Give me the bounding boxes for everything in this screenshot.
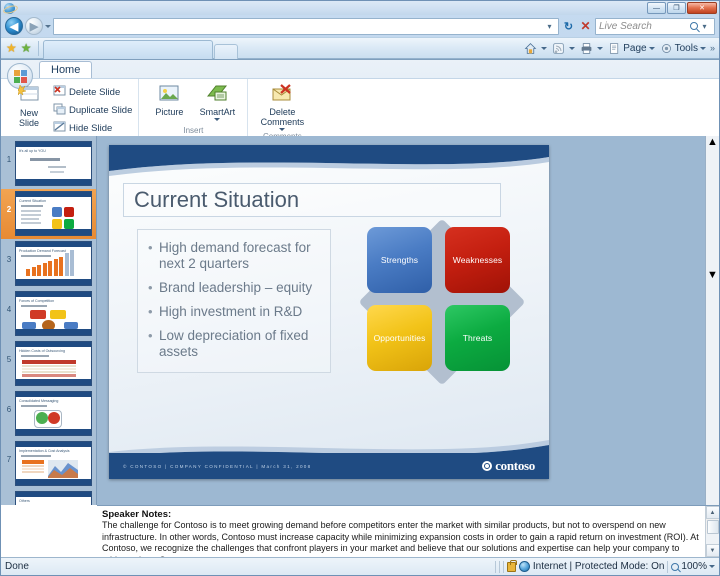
- slide-thumbnail-item[interactable]: 2Current Situation: [1, 189, 96, 239]
- slide-thumbnail-preview[interactable]: Implementation & Cost Analysis: [15, 441, 92, 486]
- slide-thumbnail-title: Implementation & Cost Analysis: [19, 449, 70, 453]
- contoso-ring-icon: [482, 461, 492, 471]
- home-button[interactable]: [522, 42, 549, 55]
- title-bar: — ❐ ✕: [1, 1, 719, 15]
- print-caret-icon[interactable]: [597, 47, 603, 50]
- slide-thumbnail-number: 6: [3, 391, 15, 414]
- thumbnail-top-band: [16, 292, 91, 297]
- slide-bullet: •High demand forecast for next 2 quarter…: [148, 240, 322, 272]
- zoom-level-label[interactable]: 100%: [681, 561, 707, 572]
- duplicate-slide-label: Duplicate Slide: [69, 105, 132, 116]
- slide-thumbnail-preview[interactable]: Current Situation: [15, 191, 92, 236]
- status-message: Done: [5, 561, 29, 572]
- slide-thumbnail-pane[interactable]: 1It's all up to YOU2Current Situation3Pr…: [1, 136, 97, 505]
- new-tab-button[interactable]: [214, 44, 238, 59]
- print-button[interactable]: [578, 42, 605, 55]
- duplicate-slide-icon: [53, 103, 66, 118]
- thumbnail-top-band: [16, 442, 91, 447]
- slide-bullet: •High investment in R&D: [148, 304, 322, 320]
- feeds-button[interactable]: [550, 42, 577, 55]
- slide-thumbnail-number: 7: [3, 441, 15, 464]
- smartart-button[interactable]: SmartArt: [197, 82, 237, 121]
- slide-thumbnail-item[interactable]: 4Forces of Competition: [1, 289, 96, 339]
- hide-slide-button[interactable]: Hide Slide: [51, 120, 134, 137]
- slide-thumbnail-item[interactable]: 8Others: [1, 489, 96, 505]
- slide-thumbnail-number: 1: [3, 141, 15, 164]
- ribbon-tab-row: Home: [1, 60, 719, 78]
- thumbnail-bottom-band: [16, 179, 91, 185]
- lock-icon: [507, 562, 516, 572]
- smartart-label: SmartArt: [200, 107, 236, 117]
- tools-menu-label: Tools: [675, 43, 698, 54]
- address-bar[interactable]: ▾: [53, 18, 559, 35]
- browser-tab[interactable]: [43, 40, 213, 59]
- refresh-button[interactable]: ↻: [561, 20, 576, 33]
- swot-label-strengths: Strengths: [381, 255, 418, 265]
- picture-button[interactable]: Picture: [149, 82, 189, 117]
- slide-top-band: [109, 145, 549, 179]
- globe-icon: [519, 561, 530, 572]
- slide-thumbnail-title: Current Situation: [19, 199, 46, 203]
- thumbnail-top-band: [16, 492, 91, 497]
- delete-slide-button[interactable]: Delete Slide: [51, 84, 134, 101]
- slide-thumbnail-title: Forces of Competition: [19, 299, 54, 303]
- slide-thumbnail-number: 5: [3, 341, 15, 364]
- tools-icon: [660, 42, 673, 55]
- slide-thumbnail-item[interactable]: 7Implementation & Cost Analysis: [1, 439, 96, 489]
- slide-thumbnail-preview[interactable]: Others: [15, 491, 92, 505]
- speaker-notes-heading: Speaker Notes:: [102, 509, 700, 520]
- search-box[interactable]: Live Search ▾: [595, 18, 715, 35]
- notes-scroll-track[interactable]: [706, 534, 719, 544]
- thumbnail-bottom-band: [16, 379, 91, 385]
- swot-box-threats[interactable]: Threats: [445, 305, 510, 371]
- slide-thumbnail-preview[interactable]: Forces of Competition: [15, 291, 92, 336]
- new-slide-label-line1: New: [20, 108, 38, 118]
- page-icon: [608, 42, 621, 55]
- delete-comments-label-line2: Comments: [261, 117, 305, 127]
- scroll-down-button[interactable]: ▼: [707, 269, 718, 281]
- maximize-button[interactable]: ❐: [667, 2, 686, 14]
- slide-thumbnail-preview[interactable]: It's all up to YOU: [15, 141, 92, 186]
- hide-slide-icon: [53, 121, 66, 136]
- slide-thumbnail-item[interactable]: 3Production Demand Forecast: [1, 239, 96, 289]
- navigation-bar: ◀ ▶ ▾ ↻ ✕ Live Search ▾: [1, 15, 719, 37]
- command-bar: ★ ★: [1, 37, 719, 59]
- slide-thumbnail-preview[interactable]: Consolidated Messaging: [15, 391, 92, 436]
- slide-thumbnail-number: 8: [3, 491, 15, 505]
- ribbon-body: New Slide: [1, 78, 719, 136]
- stage-scrollbar[interactable]: ▲ ▼: [705, 136, 719, 505]
- status-divider: [495, 561, 496, 573]
- zoom-caret-icon[interactable]: [709, 565, 715, 568]
- command-bar-buttons: Page Tools »: [522, 42, 716, 55]
- toolbar-divider: [38, 41, 39, 56]
- swot-box-weaknesses[interactable]: Weaknesses: [445, 227, 510, 293]
- duplicate-slide-button[interactable]: Duplicate Slide: [51, 102, 134, 119]
- swot-label-opportunities: Opportunities: [374, 333, 426, 343]
- back-button[interactable]: ◀: [5, 17, 23, 35]
- stop-button[interactable]: ✕: [578, 19, 593, 33]
- slide-title[interactable]: Current Situation: [123, 183, 501, 217]
- new-slide-button[interactable]: New Slide: [9, 82, 49, 128]
- ribbon-group-insert-label: Insert: [149, 125, 237, 136]
- tab-home[interactable]: Home: [39, 61, 92, 78]
- browser-window: — ❐ ✕ ◀ ▶ ▾ ↻ ✕ Live Search ▾ ★ ★: [0, 0, 720, 576]
- slide-thumbnail-item[interactable]: 1It's all up to YOU: [1, 139, 96, 189]
- home-icon: [524, 42, 537, 55]
- swot-box-strengths[interactable]: Strengths: [367, 227, 432, 293]
- swot-label-weaknesses: Weaknesses: [453, 255, 503, 265]
- slide-bullet: •Low depreciation of fixed assets: [148, 328, 322, 360]
- minimize-button[interactable]: —: [647, 2, 666, 14]
- rss-icon: [552, 42, 565, 55]
- favorites-bar-icon[interactable]: ★: [21, 42, 32, 54]
- slide-footer-text: © CONTOSO | COMPANY CONFIDENTIAL | March…: [123, 464, 312, 469]
- thumbnail-top-band: [16, 392, 91, 397]
- thumbnail-bottom-band: [16, 279, 91, 285]
- thumbnail-top-band: [16, 142, 91, 147]
- search-placeholder[interactable]: Live Search: [599, 21, 690, 32]
- page-menu-label: Page: [623, 43, 646, 54]
- status-divider: [667, 561, 668, 573]
- slide-body-placeholder[interactable]: •High demand forecast for next 2 quarter…: [137, 229, 331, 373]
- bullet-marker-icon: •: [148, 280, 159, 296]
- slide-thumbnail-preview[interactable]: Hidden Costs of Outsourcing: [15, 341, 92, 386]
- home-caret-icon[interactable]: [541, 47, 547, 50]
- brand-name: contoso: [495, 458, 535, 474]
- notes-scroll-down-button[interactable]: ▼: [706, 544, 720, 557]
- notes-scrollbar[interactable]: ▲ ▼: [705, 506, 719, 557]
- status-divider: [499, 561, 500, 573]
- ie-logo-icon: [4, 3, 15, 14]
- slide-thumbnail-title: Production Demand Forecast: [19, 249, 66, 253]
- delete-slide-icon: [53, 85, 66, 100]
- delete-comments-button[interactable]: Delete Comments: [256, 82, 308, 131]
- feeds-caret-icon[interactable]: [569, 47, 575, 50]
- thumbnail-top-band: [16, 242, 91, 247]
- slide-thumbnail-title: Hidden Costs of Outsourcing: [19, 349, 65, 353]
- delete-comments-icon: [270, 84, 294, 105]
- speaker-notes-text[interactable]: The challenge for Contoso is to meet gro…: [102, 520, 700, 557]
- swot-diagram[interactable]: Strengths Weaknesses Opportunities Threa…: [359, 223, 524, 381]
- slide-bullet-text: High investment in R&D: [159, 304, 302, 320]
- smartart-caret-icon[interactable]: [214, 118, 220, 121]
- thumbnail-bottom-band: [16, 479, 91, 485]
- address-dropdown-icon[interactable]: ▾: [543, 22, 556, 31]
- search-icon[interactable]: [690, 22, 698, 30]
- ribbon-group-slides: New Slide: [5, 79, 138, 136]
- slide-bullet-text: Low depreciation of fixed assets: [159, 328, 322, 360]
- command-overflow-icon[interactable]: »: [709, 43, 716, 53]
- thumbnail-bottom-band: [16, 229, 91, 235]
- slide-bullet: •Brand leadership – equity: [148, 280, 322, 296]
- slide-thumbnail-number: 3: [3, 241, 15, 264]
- forward-button[interactable]: ▶: [25, 17, 43, 35]
- thumbnail-top-band: [16, 192, 91, 197]
- zoom-control[interactable]: 100%: [671, 561, 715, 572]
- slide-bullet-text: Brand leadership – equity: [159, 280, 312, 296]
- scroll-up-button[interactable]: ▲: [707, 136, 718, 148]
- recent-pages-caret-icon[interactable]: [45, 25, 51, 28]
- page-content: Home: [1, 59, 719, 575]
- swot-label-threats: Threats: [463, 333, 493, 343]
- slide-thumbnail-preview[interactable]: Production Demand Forecast: [15, 241, 92, 286]
- workspace: 1It's all up to YOU2Current Situation3Pr…: [1, 136, 719, 505]
- thumbnail-top-band: [16, 342, 91, 347]
- page-caret-icon[interactable]: [649, 47, 655, 50]
- slide-thumbnail-title: It's all up to YOU: [19, 149, 46, 153]
- status-bar: Done Internet | Protected Mode: On 100%: [1, 557, 719, 575]
- slide-thumbnail-item[interactable]: 5Hidden Costs of Outsourcing: [1, 339, 96, 389]
- slide-thumbnail-number: 2: [3, 191, 15, 214]
- smartart-icon: [206, 84, 228, 105]
- hide-slide-label: Hide Slide: [69, 123, 112, 134]
- search-provider-caret-icon[interactable]: ▾: [698, 22, 711, 31]
- address-input[interactable]: [56, 21, 543, 32]
- status-divider: [503, 561, 504, 573]
- notes-scroll-thumb[interactable]: [707, 520, 719, 534]
- add-favorite-icon[interactable]: ★: [6, 42, 17, 54]
- ribbon-group-comments: Delete Comments Comments: [247, 79, 320, 136]
- delete-comments-label-line1: Delete: [269, 107, 295, 117]
- bullet-marker-icon: •: [148, 328, 159, 360]
- speaker-notes-content[interactable]: Speaker Notes: The challenge for Contoso…: [97, 506, 705, 557]
- tools-caret-icon[interactable]: [700, 47, 706, 50]
- speaker-notes-pane[interactable]: Speaker Notes: The challenge for Contoso…: [97, 505, 719, 557]
- slide-thumbnail-list: 1It's all up to YOU2Current Situation3Pr…: [1, 136, 96, 505]
- tab-strip: [43, 37, 523, 59]
- security-zone-label[interactable]: Internet | Protected Mode: On: [533, 561, 665, 572]
- bullet-marker-icon: •: [148, 304, 159, 320]
- ribbon-group-insert: Picture SmartArt: [138, 79, 247, 136]
- slide-bullet-text: High demand forecast for next 2 quarters: [159, 240, 322, 272]
- magnifier-icon: [671, 563, 679, 571]
- new-slide-icon: [18, 84, 40, 106]
- picture-label: Picture: [155, 107, 183, 117]
- page-menu-button[interactable]: Page: [606, 42, 656, 55]
- ribbon: Home: [1, 60, 719, 136]
- slide-thumbnail-item[interactable]: 6Consolidated Messaging: [1, 389, 96, 439]
- notes-scroll-up-button[interactable]: ▲: [706, 506, 720, 519]
- bullet-marker-icon: •: [148, 240, 159, 272]
- slide-footer: © CONTOSO | COMPANY CONFIDENTIAL | March…: [109, 453, 549, 479]
- thumbnail-bottom-band: [16, 329, 91, 335]
- print-icon: [580, 42, 593, 55]
- slide-thumbnail-title: Consolidated Messaging: [19, 399, 58, 403]
- delete-slide-label: Delete Slide: [69, 87, 120, 98]
- brand-logo: contoso: [482, 458, 535, 474]
- swot-box-opportunities[interactable]: Opportunities: [367, 305, 432, 371]
- new-slide-label-line2: Slide: [19, 118, 39, 128]
- slide-thumbnail-title: Others: [19, 499, 30, 503]
- tools-menu-button[interactable]: Tools: [658, 42, 708, 55]
- slide-canvas[interactable]: Current Situation •High demand forecast …: [109, 145, 549, 479]
- picture-icon: [158, 84, 180, 105]
- window-controls: — ❐ ✕: [647, 2, 717, 14]
- slide-stage: Current Situation •High demand forecast …: [97, 136, 719, 505]
- thumbnail-bottom-band: [16, 429, 91, 435]
- close-button[interactable]: ✕: [687, 2, 717, 14]
- slide-thumbnail-number: 4: [3, 291, 15, 314]
